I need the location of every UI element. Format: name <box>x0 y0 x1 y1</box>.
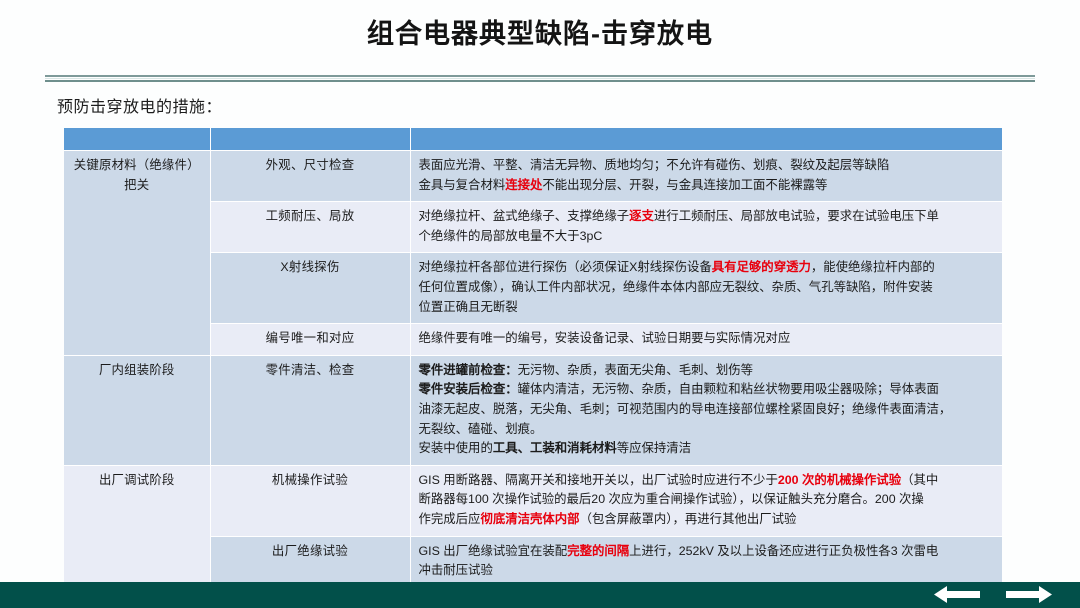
highlight-text: 逐支 <box>629 209 654 223</box>
plain-text: 无污物、杂质，表面无尖角、毛刺、划伤等 <box>518 363 753 377</box>
plain-text: 无裂纹、磕碰、划痕。 <box>419 422 543 436</box>
table-row: 关键原材料（绝缘件）把关外观、尺寸检查表面应光滑、平整、清洁无异物、质地均匀；不… <box>64 151 1002 202</box>
cell-stage: 出厂调试阶段 <box>64 465 210 587</box>
plain-text: 对绝缘拉杆、盆式绝缘子、支撑绝缘子 <box>419 209 630 223</box>
plain-text: 进行工频耐压、局部放电试验，要求在试验电压下单 <box>654 209 939 223</box>
plain-text: 断路器每100 次操作试验的最后20 次应为重合闸操作试验），以保证触头充分磨合… <box>419 492 924 506</box>
detail-line: 对绝缘拉杆、盆式绝缘子、支撑绝缘子逐支进行工频耐压、局部放电试验，要求在试验电压… <box>419 207 995 227</box>
plain-text: GIS 用断路器、隔离开关和接地开关以，出厂试验时应进行不少于 <box>419 473 778 487</box>
cell-stage: 厂内组装阶段 <box>64 355 210 465</box>
cell-detail: 表面应光滑、平整、清洁无异物、质地均匀；不允许有碰伤、划痕、裂纹及起层等缺陷金具… <box>410 151 1002 202</box>
detail-line: 对绝缘拉杆各部位进行探伤（必须保证X射线探伤设备具有足够的穿透力，能使绝缘拉杆内… <box>419 258 995 278</box>
detail-line: GIS 用断路器、隔离开关和接地开关以，出厂试验时应进行不少于200 次的机械操… <box>419 471 995 491</box>
detail-line: 作完成后应彻底清洁壳体内部（包含屏蔽罩内），再进行其他出厂试验 <box>419 510 995 530</box>
header-cell-item <box>210 128 410 151</box>
detail-line: 油漆无起皮、脱落，无尖角、毛刺；可视范围内的导电连接部位螺栓紧固良好；绝缘件表面… <box>419 400 995 420</box>
measures-table: 关键原材料（绝缘件）把关外观、尺寸检查表面应光滑、平整、清洁无异物、质地均匀；不… <box>64 128 1002 588</box>
header-cell-stage <box>64 128 210 151</box>
plain-text: 绝缘件要有唯一的编号，安装设备记录、试验日期要与实际情况对应 <box>419 331 791 345</box>
slide-navigation <box>934 586 1052 608</box>
plain-text: 表面应光滑、平整、清洁无异物、质地均匀；不允许有碰伤、划痕、裂纹及起层等缺陷 <box>419 158 890 172</box>
detail-line: 无裂纹、磕碰、划痕。 <box>419 420 995 440</box>
detail-line: 零件进罐前检查：无污物、杂质，表面无尖角、毛刺、划伤等 <box>419 361 995 381</box>
detail-line: 冲击耐压试验 <box>419 561 995 581</box>
title-divider <box>45 75 1035 82</box>
previous-slide-arrow-icon[interactable] <box>934 586 980 608</box>
plain-text: 不能出现分层、开裂，与金具连接加工面不能裸露等 <box>542 178 827 192</box>
highlight-text: 具有足够的穿透力 <box>712 260 811 274</box>
cell-detail: 绝缘件要有唯一的编号，安装设备记录、试验日期要与实际情况对应 <box>410 324 1002 356</box>
plain-text: GIS 出厂绝缘试验宜在装配 <box>419 544 568 558</box>
plain-text: （其中 <box>901 473 938 487</box>
divider-line-middle <box>45 78 1035 79</box>
measures-table-container: 关键原材料（绝缘件）把关外观、尺寸检查表面应光滑、平整、清洁无异物、质地均匀；不… <box>64 128 1002 588</box>
cell-detail: 对绝缘拉杆、盆式绝缘子、支撑绝缘子逐支进行工频耐压、局部放电试验，要求在试验电压… <box>410 202 1002 253</box>
cell-detail: GIS 用断路器、隔离开关和接地开关以，出厂试验时应进行不少于200 次的机械操… <box>410 465 1002 536</box>
plain-text: 位置正确且无断裂 <box>419 300 518 314</box>
plain-text: 冲击耐压试验 <box>419 563 493 577</box>
cell-detail: 零件进罐前检查：无污物、杂质，表面无尖角、毛刺、划伤等零件安装后检查：罐体内清洁… <box>410 355 1002 465</box>
divider-line-bottom <box>45 80 1035 82</box>
next-slide-arrow-icon[interactable] <box>1006 586 1052 608</box>
cell-item: 外观、尺寸检查 <box>210 151 410 202</box>
table-header-row <box>64 128 1002 151</box>
section-subtitle: 预防击穿放电的措施： <box>57 93 222 117</box>
slide-canvas: 组合电器典型缺陷-击穿放电 预防击穿放电的措施： 关键原材料（绝缘件）把关外观、… <box>0 0 1080 608</box>
cell-item: 零件清洁、检查 <box>210 355 410 465</box>
divider-line-top <box>45 75 1035 77</box>
plain-text: 金具与复合材料 <box>419 178 506 192</box>
plain-text: 对绝缘拉杆各部位进行探伤（必须保证X射线探伤设备 <box>419 260 712 274</box>
detail-line: 绝缘件要有唯一的编号，安装设备记录、试验日期要与实际情况对应 <box>419 329 995 349</box>
bold-text: 零件进罐前检查： <box>419 363 518 377</box>
plain-text: 任何位置成像），确认工件内部状况，绝缘件本体内部应无裂纹、杂质、气孔等缺陷，附件… <box>419 280 933 294</box>
cell-detail: GIS 出厂绝缘试验宜在装配完整的间隔上进行，252kV 及以上设备还应进行正负… <box>410 536 1002 587</box>
cell-item: X射线探伤 <box>210 253 410 324</box>
detail-line: 个绝缘件的局部放电量不大于3pC <box>419 227 995 247</box>
table-header <box>64 128 1002 151</box>
page-title: 组合电器典型缺陷-击穿放电 <box>0 18 1080 50</box>
highlight-text: 彻底清洁壳体内部 <box>480 512 579 526</box>
table-body: 关键原材料（绝缘件）把关外观、尺寸检查表面应光滑、平整、清洁无异物、质地均匀；不… <box>64 151 1002 588</box>
highlight-text: 完整的间隔 <box>567 544 629 558</box>
bold-text: 工具、工装和消耗材料 <box>493 441 617 455</box>
detail-line: 断路器每100 次操作试验的最后20 次应为重合闸操作试验），以保证触头充分磨合… <box>419 490 995 510</box>
plain-text: 油漆无起皮、脱落，无尖角、毛刺；可视范围内的导电连接部位螺栓紧固良好；绝缘件表面… <box>419 402 952 416</box>
table-row: 出厂调试阶段机械操作试验GIS 用断路器、隔离开关和接地开关以，出厂试验时应进行… <box>64 465 1002 536</box>
table-row: 厂内组装阶段零件清洁、检查零件进罐前检查：无污物、杂质，表面无尖角、毛刺、划伤等… <box>64 355 1002 465</box>
detail-line: 任何位置成像），确认工件内部状况，绝缘件本体内部应无裂纹、杂质、气孔等缺陷，附件… <box>419 278 995 298</box>
highlight-text: 连接处 <box>505 178 542 192</box>
cell-item: 编号唯一和对应 <box>210 324 410 356</box>
cell-item: 工频耐压、局放 <box>210 202 410 253</box>
footer-bar <box>0 582 1080 608</box>
plain-text: 罐体内清洁，无污物、杂质，自由颗粒和粘丝状物要用吸尘器吸除；导体表面 <box>518 382 939 396</box>
bold-text: 零件安装后检查： <box>419 382 518 396</box>
plain-text: 作完成后应 <box>419 512 481 526</box>
detail-line: 位置正确且无断裂 <box>419 298 995 318</box>
cell-detail: 对绝缘拉杆各部位进行探伤（必须保证X射线探伤设备具有足够的穿透力，能使绝缘拉杆内… <box>410 253 1002 324</box>
detail-line: 安装中使用的工具、工装和消耗材料等应保持清洁 <box>419 439 995 459</box>
cell-stage: 关键原材料（绝缘件）把关 <box>64 151 210 356</box>
header-cell-detail <box>410 128 1002 151</box>
detail-line: 表面应光滑、平整、清洁无异物、质地均匀；不允许有碰伤、划痕、裂纹及起层等缺陷 <box>419 156 995 176</box>
plain-text: ，能使绝缘拉杆内部的 <box>811 260 935 274</box>
highlight-text: 200 次的机械操作试验 <box>778 473 901 487</box>
cell-item: 出厂绝缘试验 <box>210 536 410 587</box>
plain-text: 上进行，252kV 及以上设备还应进行正负极性各3 次雷电 <box>629 544 938 558</box>
detail-line: GIS 出厂绝缘试验宜在装配完整的间隔上进行，252kV 及以上设备还应进行正负… <box>419 542 995 562</box>
detail-line: 金具与复合材料连接处不能出现分层、开裂，与金具连接加工面不能裸露等 <box>419 176 995 196</box>
detail-line: 零件安装后检查：罐体内清洁，无污物、杂质，自由颗粒和粘丝状物要用吸尘器吸除；导体… <box>419 380 995 400</box>
plain-text: 安装中使用的 <box>419 441 493 455</box>
cell-item: 机械操作试验 <box>210 465 410 536</box>
plain-text: （包含屏蔽罩内），再进行其他出厂试验 <box>580 512 797 526</box>
plain-text: 等应保持清洁 <box>617 441 691 455</box>
plain-text: 个绝缘件的局部放电量不大于3pC <box>419 229 603 243</box>
